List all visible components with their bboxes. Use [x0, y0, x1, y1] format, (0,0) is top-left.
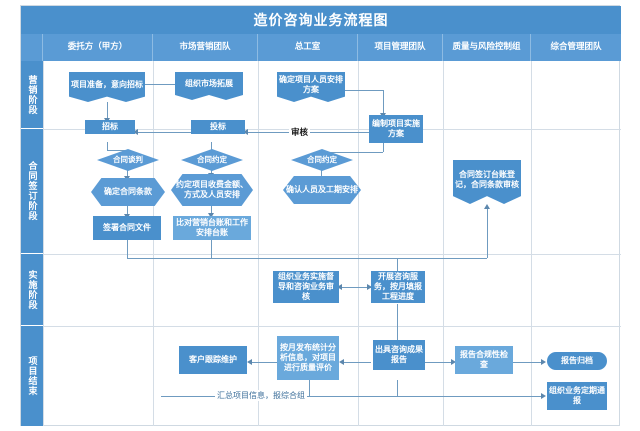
column-header-client: 委托方（甲方） — [43, 34, 153, 61]
node-organize-market-expansion[interactable]: 组织市场拓展 — [175, 72, 243, 100]
phase-label-marketing: 营销阶段 — [21, 61, 43, 129]
node-contract-agreement-marketing[interactable]: 合同约定 — [181, 149, 243, 171]
node-confirm-staffing-plan[interactable]: 确定项目人员安排方案 — [277, 72, 345, 102]
node-periodic-business-briefing[interactable]: 组织业务定期通报 — [547, 382, 607, 410]
lane-divider-0 — [43, 61, 44, 426]
column-header-admin: 综合管理团队 — [531, 34, 621, 61]
phase-divider-1 — [43, 254, 621, 255]
lane-divider-5 — [531, 61, 532, 426]
column-header-chief: 总工室 — [258, 34, 358, 61]
lane-divider-1 — [153, 61, 154, 426]
phase-label-closing: 项目结束 — [21, 326, 43, 426]
node-bid[interactable]: 投标 — [191, 120, 245, 134]
connector-n14-n15-v2 — [487, 208, 488, 258]
connector-n3-n6-v — [383, 90, 384, 115]
chart-title: 造价咨询业务流程图 — [21, 6, 621, 34]
phase-label-closing-text: 项目结束 — [26, 356, 39, 396]
flowchart-container: 造价咨询业务流程图 委托方（甲方） 市场营销团队 总工室 项目管理团队 质量与风… — [20, 5, 620, 426]
node-confirm-staff-and-schedule[interactable]: 确认人员及工期安排 — [283, 176, 361, 204]
phase-label-contract: 合同签订阶段 — [21, 129, 43, 254]
connector-n6-n9-v — [383, 143, 384, 152]
node-issue-consulting-report[interactable]: 出具咨询成果报告 — [373, 340, 425, 370]
node-contract-ledger-registration[interactable]: 合同签订台账登记，合同条款审核 — [453, 160, 521, 204]
column-header-row: 委托方（甲方） 市场营销团队 总工室 项目管理团队 质量与风险控制组 综合管理团… — [21, 34, 621, 61]
node-monthly-statistics-and-evaluation[interactable]: 按月发布统计分析信息，对项目进行质量评价 — [277, 336, 339, 380]
lane-divider-4 — [443, 61, 444, 426]
node-supervise-and-audit-business[interactable]: 组织业务实施督导和咨询业务审核 — [273, 271, 339, 303]
connector-bus-n17-h — [127, 258, 397, 259]
column-header-pm: 项目管理团队 — [358, 34, 443, 61]
arrowhead-n21-n22 — [541, 359, 546, 365]
phase-label-marketing-text: 营销阶段 — [26, 75, 39, 115]
connector-n17-n20 — [397, 304, 398, 344]
lane-divider-3 — [358, 61, 359, 426]
phase-label-contract-text: 合同签订阶段 — [26, 161, 39, 221]
connector-n13-bus — [127, 240, 128, 258]
node-sign-contract-documents[interactable]: 签署合同文件 — [93, 216, 161, 240]
edge-label-summary: 汇总项目信息，报综合组 — [215, 390, 307, 401]
node-determine-contract-terms[interactable]: 确定合同条款 — [91, 178, 165, 206]
node-report-archiving[interactable]: 报告归档 — [547, 352, 607, 370]
arrowhead-n19-n18 — [247, 359, 252, 365]
connector-n5-n4 — [135, 132, 191, 133]
connector-n19-summary — [309, 380, 310, 396]
node-customer-follow-up[interactable]: 客户跟踪维护 — [179, 346, 247, 374]
connector-n20-n21 — [425, 362, 453, 363]
node-contract-negotiation[interactable]: 合同谈判 — [97, 149, 159, 171]
edge-label-audit: 审核 — [289, 126, 310, 138]
node-project-preparation[interactable]: 项目准备，意向招标 — [69, 72, 145, 102]
connector-n19-n18 — [249, 362, 277, 363]
arrowhead-n14-n15 — [484, 204, 490, 209]
node-tender[interactable]: 招标 — [85, 120, 135, 134]
lane-divider-2 — [258, 61, 259, 426]
phase-label-execution: 实施阶段 — [21, 254, 43, 326]
connector-summary-v — [397, 380, 398, 396]
node-provide-consulting-service[interactable]: 开展咨询服务，按月填报工程进度 — [371, 271, 425, 303]
arrowhead-n20-n19 — [339, 359, 344, 365]
connector-n20-n19 — [341, 362, 371, 363]
column-header-marketing: 市场营销团队 — [153, 34, 258, 61]
node-agree-fee-and-staffing[interactable]: 约定项目收费金额、方式及人员安排 — [171, 174, 253, 206]
connector-n14-n15-v1 — [211, 240, 212, 258]
connector-n21-n22 — [513, 362, 543, 363]
arrowhead-summary-n23 — [541, 393, 546, 399]
column-header-phase — [21, 34, 43, 61]
flowchart-screenshot: 造价咨询业务流程图 委托方（甲方） 市场营销团队 总工室 项目管理团队 质量与风… — [0, 0, 640, 431]
phase-label-execution-text: 实施阶段 — [26, 270, 39, 310]
phase-divider-2 — [43, 326, 621, 327]
connector-n4-n7-v1 — [107, 142, 108, 150]
node-prepare-implementation-plan[interactable]: 编制项目实施方案 — [369, 115, 423, 143]
node-compare-ledgers[interactable]: 比对营销台账和工作安排台账 — [173, 216, 251, 240]
column-header-qa: 质量与风险控制组 — [443, 34, 531, 61]
node-report-compliance-check[interactable]: 报告合规性检查 — [455, 346, 513, 374]
